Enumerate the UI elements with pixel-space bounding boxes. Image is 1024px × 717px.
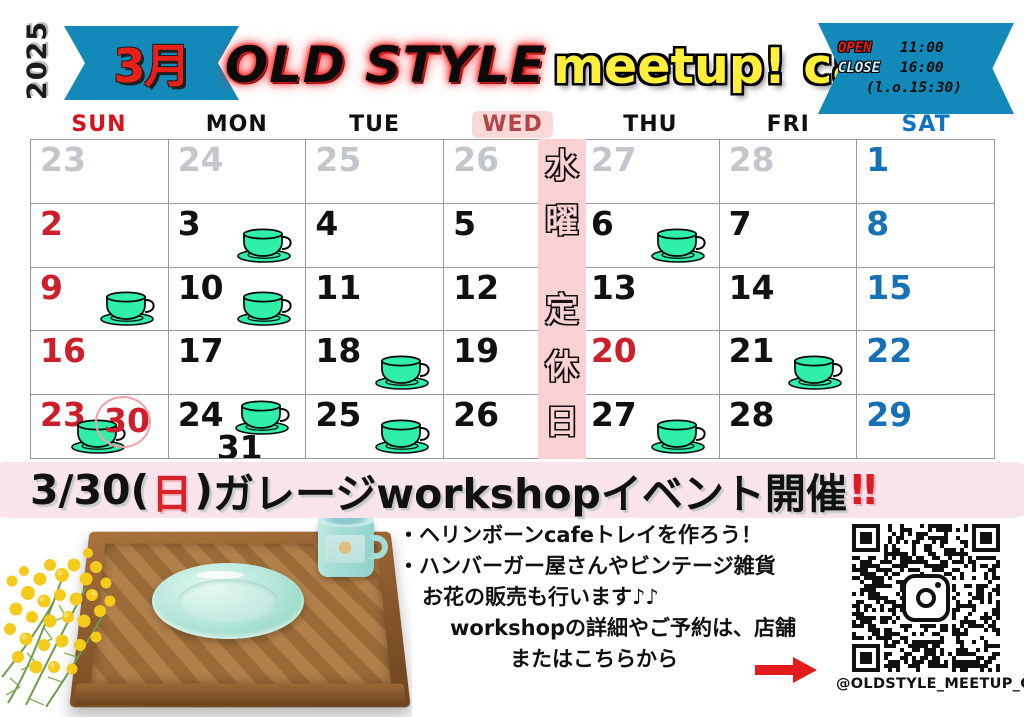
day-number-secondary: 31 <box>217 428 263 459</box>
month-label: 3月 <box>64 26 239 100</box>
close-label: CLOSE <box>838 58 900 78</box>
calendar-day-cell[interactable]: 25 <box>306 395 444 459</box>
event-banner-text: 3/30( 日 ) ガレージworkshopイベント開催 ‼ <box>30 462 1020 518</box>
calendar-day-cell[interactable]: 10 <box>169 268 307 332</box>
coffee-cup-icon <box>235 223 297 263</box>
calendar-day-cell[interactable]: 8 <box>857 204 995 268</box>
calendar-day-cell[interactable]: 28 <box>720 140 858 204</box>
calendar-day-cell[interactable]: 14 <box>720 268 858 332</box>
day-number-circled: 30 <box>104 401 150 440</box>
weekday-header-sun: SUN <box>30 110 168 138</box>
plate-highlight <box>196 571 244 579</box>
weekday-label: THU <box>623 112 677 137</box>
day-number: 24 <box>178 142 224 178</box>
weekday-header-thu: THU <box>581 110 719 138</box>
detail-line-2: ・ハンバーガー屋さんやビンテージ雑貨 <box>398 551 858 582</box>
day-number: 15 <box>866 270 912 306</box>
weekday-label: WED <box>472 111 553 138</box>
mint-plate <box>152 563 304 639</box>
coffee-cup-icon <box>649 414 711 454</box>
calendar-day-cell[interactable]: 9 <box>31 268 169 332</box>
weekday-header-row: SUNMONTUEWEDTHUFRISAT <box>30 110 995 138</box>
brand-title-old-style: OLD STYLE <box>225 36 546 94</box>
weekday-label: TUE <box>349 112 400 137</box>
day-number: 28 <box>729 397 775 433</box>
coffee-cup-icon <box>373 350 435 390</box>
day-number: 11 <box>315 270 361 306</box>
calendar-day-cell[interactable]: 1 <box>857 140 995 204</box>
last-order-note: (l.o.15:30) <box>834 78 994 98</box>
day-number: 29 <box>866 397 912 433</box>
close-hours-row: CLOSE 16:00 <box>838 58 998 78</box>
calendar-day-cell[interactable]: 27 <box>582 395 720 459</box>
coffee-cup-icon <box>649 223 711 263</box>
event-date-close: ) <box>194 466 213 514</box>
weekday-header-wed: WED <box>444 110 582 138</box>
calendar-day-cell[interactable]: 7 <box>720 204 858 268</box>
calendar-day-cell[interactable]: 18 <box>306 331 444 395</box>
event-title: ガレージworkshopイベント開催 <box>213 460 847 520</box>
product-photo-tray <box>0 505 412 717</box>
day-number: 17 <box>178 333 224 369</box>
event-date: 3/30( <box>30 466 149 514</box>
day-number: 25 <box>315 397 361 433</box>
calendar-day-cell[interactable]: 28 <box>720 395 858 459</box>
day-number: 3 <box>178 206 201 242</box>
instagram-dot <box>935 582 941 588</box>
day-number: 20 <box>591 333 637 369</box>
open-label: OPEN <box>838 38 900 58</box>
day-number: 28 <box>729 142 775 178</box>
closed-note-char: 水 <box>546 149 579 182</box>
calendar-day-cell[interactable]: 23 <box>31 140 169 204</box>
event-weekday: 日 <box>151 460 192 520</box>
closed-note-char: 定 <box>546 293 579 326</box>
day-number: 23 <box>40 142 86 178</box>
instagram-qr-code[interactable] <box>852 524 1000 672</box>
instagram-handle: @OLDSTYLE_MEETUP_CAFE <box>836 676 1020 692</box>
weekday-header-sat: SAT <box>857 110 995 138</box>
instagram-icon <box>902 574 950 622</box>
coffee-cup-icon <box>786 350 848 390</box>
mimosa-flowers <box>0 517 135 707</box>
day-number: 21 <box>729 333 775 369</box>
calendar-day-cell[interactable]: 25 <box>306 140 444 204</box>
coffee-cup-icon <box>235 286 297 326</box>
day-number: 5 <box>453 206 476 242</box>
detail-line-1: ・ヘリンボーンcafeトレイを作ろう！ <box>398 520 858 551</box>
weekday-label: SUN <box>71 112 126 137</box>
weekday-label: FRI <box>767 112 810 137</box>
weekday-label: MON <box>206 112 268 137</box>
event-exclaim: ‼ <box>851 466 877 514</box>
header-banner: 3月 OLD STYLE meetup! cafe OPEN 11:00 CLO… <box>0 16 1024 104</box>
day-number: 7 <box>729 206 752 242</box>
calendar-day-cell[interactable]: 2 <box>31 204 169 268</box>
calendar-day-cell[interactable]: 20 <box>582 331 720 395</box>
open-hours-row: OPEN 11:00 <box>838 38 998 58</box>
wednesday-closed-strip: 水曜定休日 <box>538 139 586 459</box>
day-number: 10 <box>178 270 224 306</box>
day-number: 27 <box>591 397 637 433</box>
detail-line-3: お花の販売も行います♪♪ <box>398 582 858 613</box>
calendar-day-cell[interactable]: 6 <box>582 204 720 268</box>
day-number: 8 <box>866 206 889 242</box>
mint-mug <box>318 519 374 577</box>
mug-logo <box>325 535 365 563</box>
weekday-header-tue: TUE <box>306 110 444 138</box>
day-number: 26 <box>453 397 499 433</box>
calendar-day-cell[interactable]: 2431 <box>169 395 307 459</box>
right-arrow-icon <box>755 657 817 683</box>
day-number: 13 <box>591 270 637 306</box>
coffee-cup-icon <box>98 286 160 326</box>
day-number: 16 <box>40 333 86 369</box>
open-time: 11:00 <box>900 38 944 58</box>
detail-line-4: workshopの詳細やご予約は、店舗 <box>398 613 858 644</box>
weekday-header-mon: MON <box>168 110 306 138</box>
day-number: 19 <box>453 333 499 369</box>
closed-note-char: 日 <box>546 405 579 438</box>
day-number: 2 <box>40 206 63 242</box>
day-number: 18 <box>315 333 361 369</box>
calendar-day-cell[interactable]: 22 <box>857 331 995 395</box>
calendar-day-cell[interactable]: 24 <box>169 140 307 204</box>
day-number: 1 <box>866 142 889 178</box>
calendar-day-cell[interactable]: 21 <box>720 331 858 395</box>
calendar-grid: 2324252627281234567891011121314151617181… <box>30 139 995 459</box>
day-number: 6 <box>591 206 614 242</box>
day-number: 25 <box>315 142 361 178</box>
close-time: 16:00 <box>900 58 944 78</box>
weekday-header-fri: FRI <box>719 110 857 138</box>
calendar-day-cell[interactable]: 27 <box>582 140 720 204</box>
calendar-day-cell[interactable]: 16 <box>31 331 169 395</box>
coffee-cup-icon <box>373 414 435 454</box>
instagram-lens <box>916 588 936 608</box>
day-number: 27 <box>591 142 637 178</box>
plate-inner-well <box>178 579 278 623</box>
day-number: 4 <box>315 206 338 242</box>
day-number: 26 <box>453 142 499 178</box>
day-number: 22 <box>866 333 912 369</box>
calendar-day-cell[interactable]: 13 <box>582 268 720 332</box>
closed-note-char: 曜 <box>546 204 579 237</box>
calendar-day-cell[interactable]: 29 <box>857 395 995 459</box>
calendar-day-cell[interactable]: 3 <box>169 204 307 268</box>
calendar-day-cell[interactable]: 15 <box>857 268 995 332</box>
day-number: 14 <box>729 270 775 306</box>
calendar-day-cell[interactable]: 4 <box>306 204 444 268</box>
day-number: 9 <box>40 270 63 306</box>
calendar-day-cell[interactable]: 17 <box>169 331 307 395</box>
day-number: 12 <box>453 270 499 306</box>
closed-note-char: 休 <box>546 350 579 383</box>
business-hours: OPEN 11:00 CLOSE 16:00 (l.o.15:30) <box>838 38 998 98</box>
weekday-label: SAT <box>901 112 950 137</box>
calendar-day-cell[interactable]: 11 <box>306 268 444 332</box>
calendar-flyer: 2025 3月 OLD STYLE meetup! cafe OPEN 11:0… <box>0 0 1024 717</box>
event-details-text: ・ヘリンボーンcafeトレイを作ろう！ ・ハンバーガー屋さんやビンテージ雑貨 お… <box>398 520 858 675</box>
calendar-day-cell[interactable]: 2330 <box>31 395 169 459</box>
